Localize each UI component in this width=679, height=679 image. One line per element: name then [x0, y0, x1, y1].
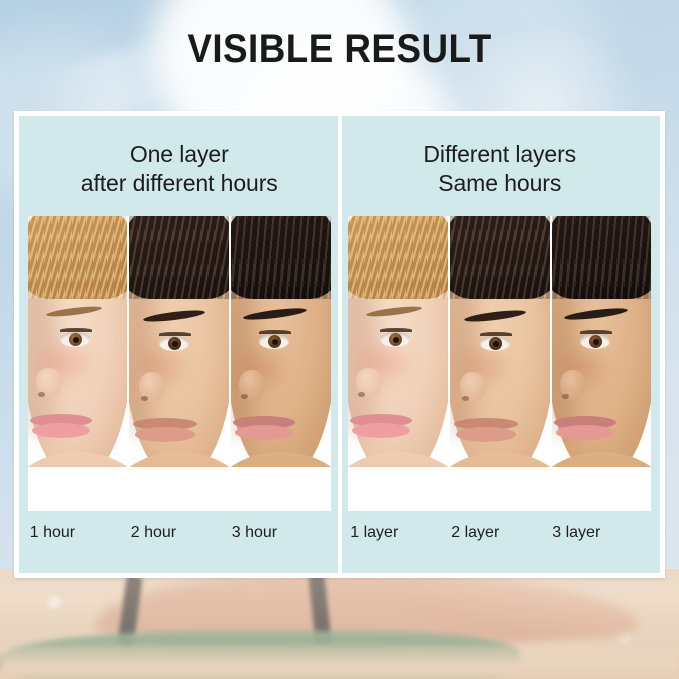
- pupil: [272, 339, 278, 345]
- hair: [28, 216, 128, 299]
- pupil: [493, 341, 499, 347]
- panel-heading-right: Different layers Same hours: [423, 140, 576, 198]
- white-top: [552, 467, 652, 511]
- photo-strip-right: [348, 216, 651, 511]
- white-top: [450, 467, 550, 511]
- lower-lip: [235, 425, 293, 440]
- pupil: [593, 339, 599, 345]
- pupil: [73, 337, 79, 343]
- panel-divider: [338, 116, 342, 573]
- pupil: [172, 341, 178, 347]
- hair-strands: [550, 216, 652, 299]
- eye: [259, 334, 289, 349]
- photo-caption: 3 hour: [230, 523, 331, 543]
- face-photo: [448, 216, 550, 511]
- panel-one-layer: One layer after different hours: [19, 116, 340, 573]
- pupil: [393, 337, 399, 343]
- panel-heading-left: One layer after different hours: [81, 140, 278, 198]
- panel-heading-left-line1: One layer: [81, 140, 278, 169]
- eye: [480, 336, 510, 351]
- hair: [229, 216, 331, 299]
- photo-caption: 1 layer: [348, 523, 449, 543]
- hair: [448, 216, 550, 299]
- lower-lip: [352, 423, 410, 438]
- eye: [580, 334, 610, 349]
- comparison-card-inner: One layer after different hours: [19, 116, 660, 573]
- photo-caption: 3 layer: [550, 523, 651, 543]
- white-top: [129, 467, 229, 511]
- hair: [127, 216, 229, 299]
- face-photo: [127, 216, 229, 511]
- nostril: [38, 392, 45, 397]
- face-photo: [28, 216, 128, 511]
- photo-caption: 2 hour: [129, 523, 230, 543]
- hair: [348, 216, 448, 299]
- photo-strip-left: [28, 216, 331, 511]
- panel-heading-left-line2: after different hours: [81, 169, 278, 198]
- lower-lip: [32, 423, 90, 438]
- hair-strands: [127, 216, 229, 299]
- hair-strands: [348, 216, 448, 299]
- nostril: [562, 394, 569, 399]
- comparison-card: One layer after different hours: [14, 111, 665, 578]
- photo-caption: 1 hour: [28, 523, 129, 543]
- hair-strands: [448, 216, 550, 299]
- nostril: [462, 396, 469, 401]
- caption-row-right: 1 layer 2 layer 3 layer: [348, 523, 651, 543]
- hair-strands: [229, 216, 331, 299]
- hair-strands: [28, 216, 128, 299]
- photo-caption: 2 layer: [449, 523, 550, 543]
- eye: [60, 332, 90, 347]
- panel-heading-right-line2: Same hours: [423, 169, 576, 198]
- caption-row-left: 1 hour 2 hour 3 hour: [28, 523, 331, 543]
- face-photo: [348, 216, 448, 511]
- beach-background: [0, 569, 679, 679]
- panel-different-layers: Different layers Same hours: [340, 116, 661, 573]
- face-photo: [229, 216, 331, 511]
- white-top: [231, 467, 331, 511]
- hair: [550, 216, 652, 299]
- white-top: [28, 467, 128, 511]
- lower-lip: [456, 427, 516, 442]
- lower-lip: [135, 427, 195, 442]
- beach-overlay: [0, 569, 679, 679]
- panel-heading-right-line1: Different layers: [423, 140, 576, 169]
- white-top: [348, 467, 448, 511]
- face-photo: [550, 216, 652, 511]
- page-title: VISIBLE RESULT: [27, 26, 652, 72]
- lower-lip: [556, 425, 614, 440]
- poster-root: VISIBLE RESULT One layer after different…: [0, 0, 679, 679]
